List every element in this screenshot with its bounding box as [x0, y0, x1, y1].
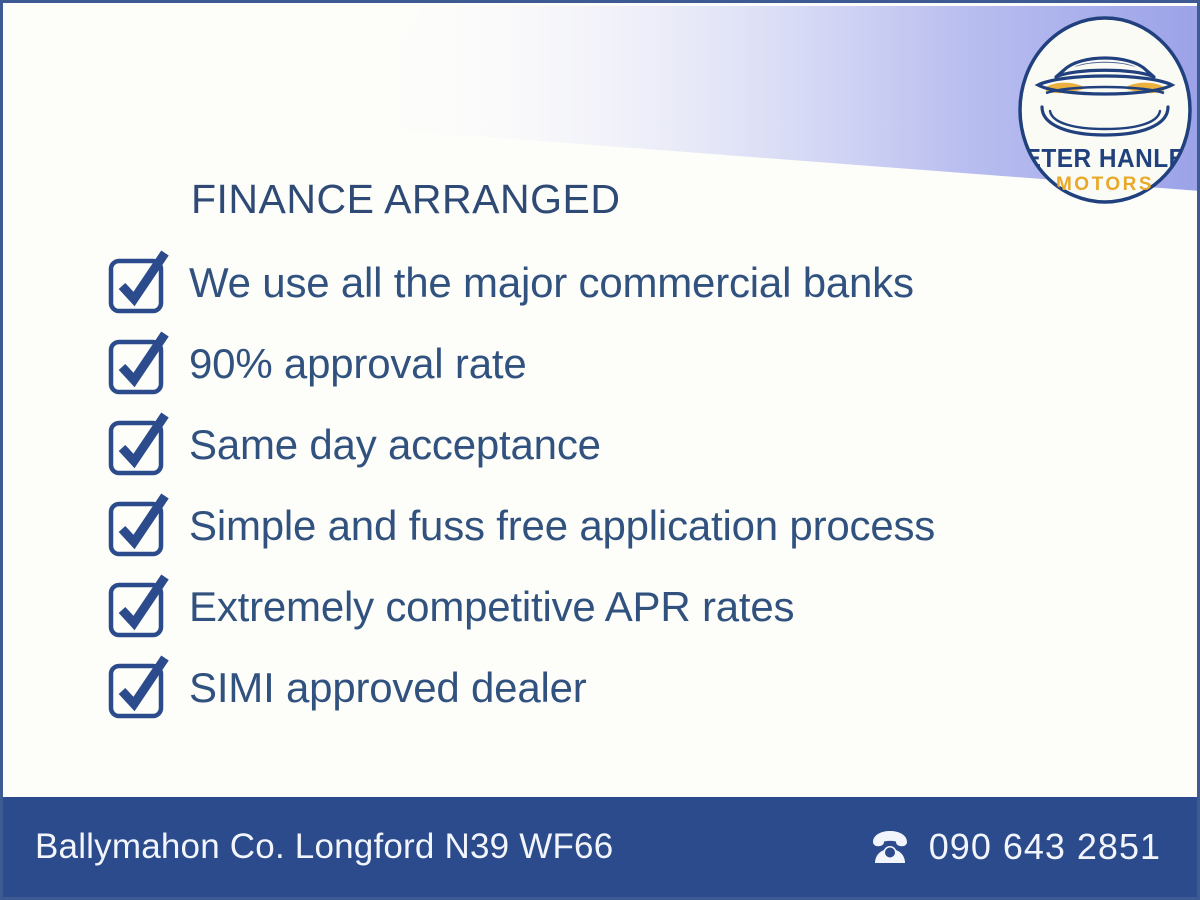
peter-hanley-motors-logo: PETER HANLEY MOTORS [1016, 15, 1194, 205]
page-title: FINANCE ARRANGED [191, 176, 620, 223]
checkbox-checked-icon [107, 253, 169, 315]
contact-footer: Ballymahon Co. Longford N39 WF66 090 643… [3, 797, 1197, 897]
checkbox-checked-icon [107, 415, 169, 477]
checkbox-checked-icon [107, 496, 169, 558]
footer-phone-number: 090 643 2851 [929, 826, 1161, 868]
logo-brand-line-1: PETER HANLEY [1016, 144, 1194, 173]
checkbox-checked-icon [107, 334, 169, 396]
checkbox-checked-icon [107, 577, 169, 639]
advertisement-card: PETER HANLEY MOTORS FINANCE ARRANGED We … [0, 0, 1200, 900]
benefits-checklist: We use all the major commercial banks 90… [107, 243, 1107, 729]
footer-address: Ballymahon Co. Longford N39 WF66 [35, 827, 613, 867]
list-item-label: Simple and fuss free application process [189, 504, 935, 548]
list-item: Simple and fuss free application process [107, 486, 1107, 567]
telephone-icon [869, 830, 911, 864]
list-item: 90% approval rate [107, 324, 1107, 405]
list-item-label: 90% approval rate [189, 342, 526, 386]
list-item: We use all the major commercial banks [107, 243, 1107, 324]
list-item-label: Same day acceptance [189, 423, 601, 467]
checkbox-checked-icon [107, 658, 169, 720]
list-item: Same day acceptance [107, 405, 1107, 486]
list-item: SIMI approved dealer [107, 648, 1107, 729]
list-item-label: We use all the major commercial banks [189, 261, 914, 305]
list-item-label: SIMI approved dealer [189, 666, 587, 710]
logo-brand-line-2: MOTORS [1056, 174, 1154, 195]
list-item-label: Extremely competitive APR rates [189, 585, 794, 629]
footer-phone[interactable]: 090 643 2851 [869, 826, 1161, 868]
list-item: Extremely competitive APR rates [107, 567, 1107, 648]
